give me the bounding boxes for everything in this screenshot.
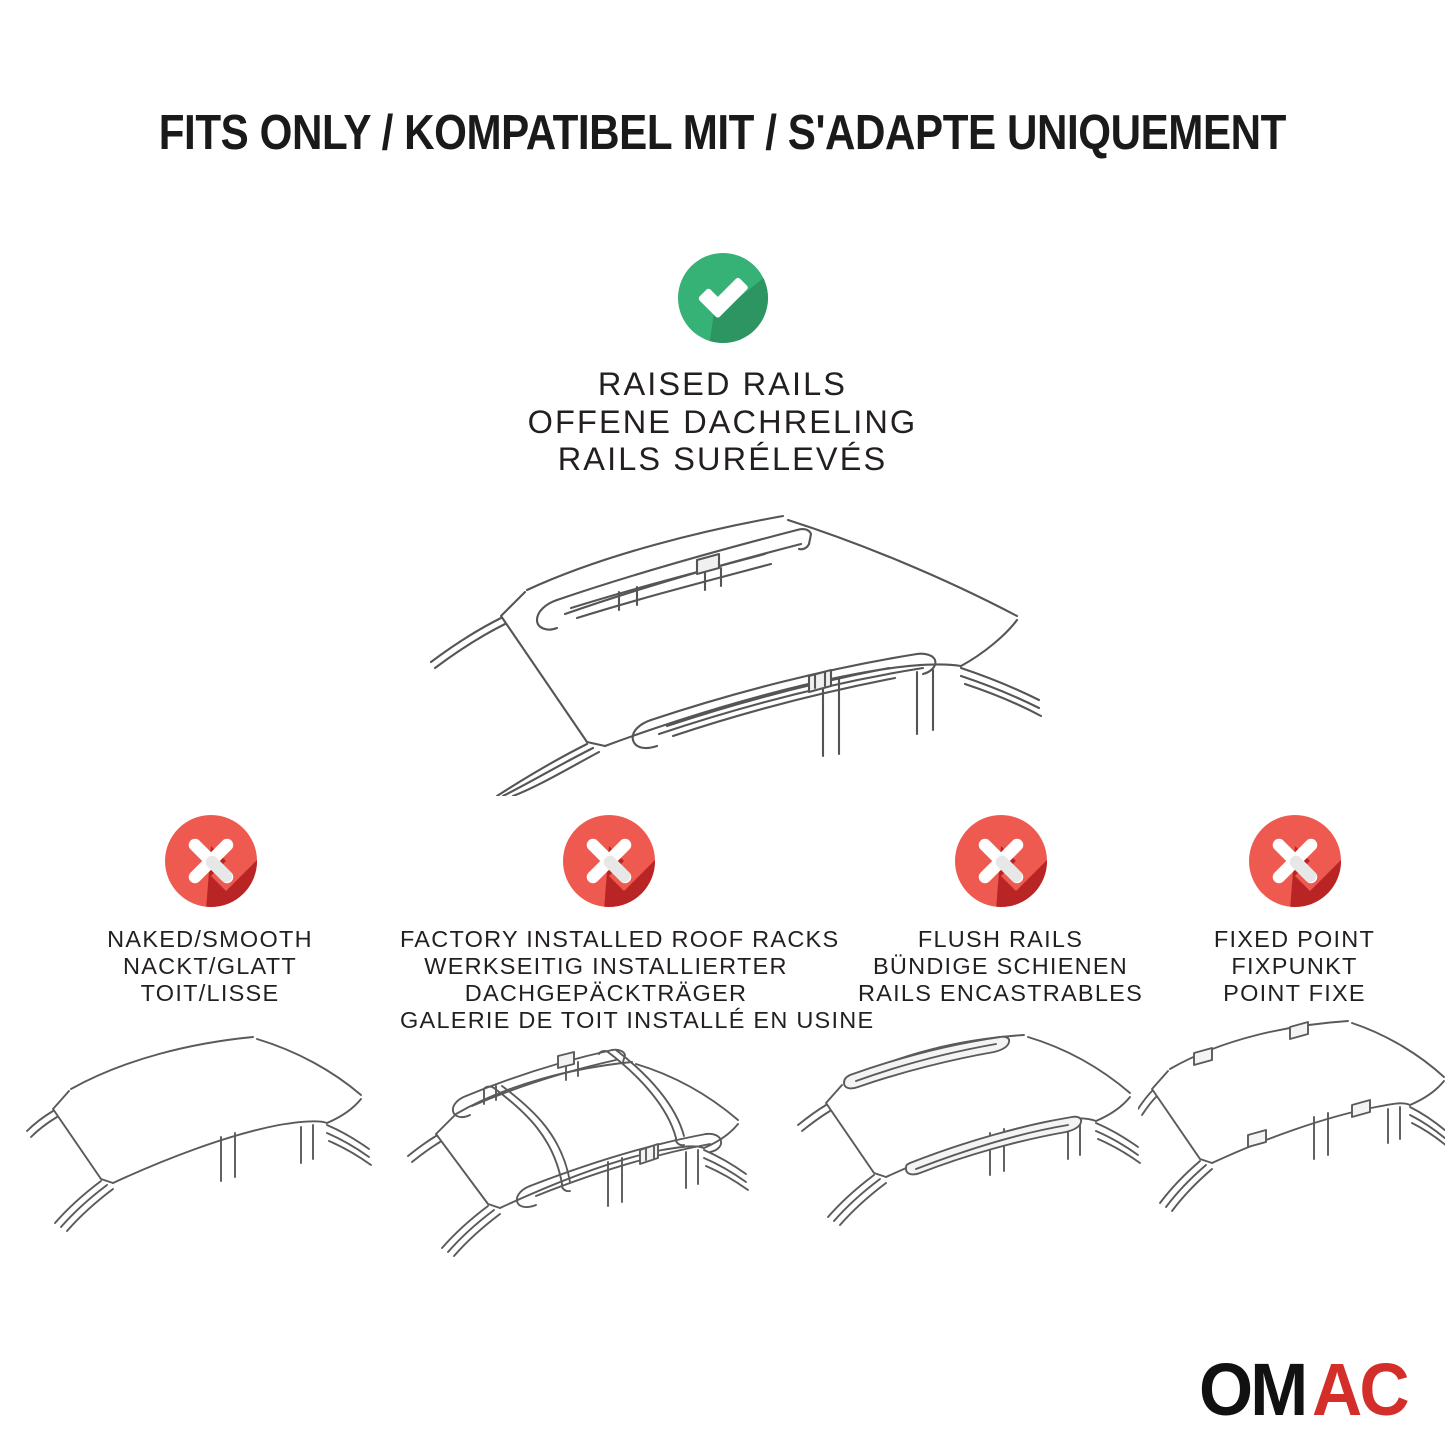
x-circle-icon [560, 812, 658, 910]
incompatible-label-4: FIXED POINT FIXPUNKT POINT FIXE [1172, 926, 1417, 1007]
incompatible-label-3-fr: RAILS ENCASTRABLES [828, 980, 1173, 1007]
x-icon-row-2 [400, 812, 812, 918]
car-roof-raised-rails-illustration [405, 496, 1055, 796]
car-roof-factory-roof-racks-illustration [396, 1034, 768, 1274]
incompatible-label-4-de: FIXPUNKT [1172, 953, 1417, 980]
x-icon-row-3 [828, 812, 1173, 918]
incompatible-label-1-fr: TOIT/LISSE [35, 980, 385, 1007]
incompatible-label-1: NAKED/SMOOTH NACKT/GLATT TOIT/LISSE [35, 926, 385, 1007]
x-circle-icon [162, 812, 260, 910]
x-circle-icon [1246, 812, 1344, 910]
check-icon-row [0, 250, 1445, 346]
compatible-label-en: RAISED RAILS [0, 366, 1445, 404]
logo-text-om: OM [1199, 1353, 1305, 1427]
incompatible-label-2-fr: GALERIE DE TOIT INSTALLÉ EN USINE [400, 1007, 812, 1034]
incompatible-label-4-fr: POINT FIXE [1172, 980, 1417, 1007]
page-title: FITS ONLY / KOMPATIBEL MIT / S'ADAPTE UN… [0, 104, 1445, 162]
compatible-panel: RAISED RAILS OFFENE DACHRELING RAILS SUR… [0, 250, 1445, 479]
incompatible-label-3-de: BÜNDIGE SCHIENEN [828, 953, 1173, 980]
compatible-label-fr: RAILS SURÉLEVÉS [0, 441, 1445, 479]
check-circle-icon [675, 250, 771, 346]
omac-logo: OMAC [1199, 1353, 1413, 1427]
incompatible-label-2-de2: DACHGEPÄCKTRÄGER [400, 980, 812, 1007]
x-icon-row-1 [35, 812, 385, 918]
incompatible-panel-flush-rails: FLUSH RAILS BÜNDIGE SCHIENEN RAILS ENCAS… [828, 812, 1173, 1243]
incompatible-label-2-en: FACTORY INSTALLED ROOF RACKS [400, 926, 812, 953]
incompatible-panel-naked-smooth: NAKED/SMOOTH NACKT/GLATT TOIT/LISSE [35, 812, 385, 1243]
car-roof-naked-smooth-illustration [25, 1013, 385, 1243]
x-circle-icon [952, 812, 1050, 910]
x-icon-row-4 [1172, 812, 1417, 918]
car-roof-flush-rails-illustration [786, 1013, 1152, 1243]
incompatible-label-3-en: FLUSH RAILS [828, 926, 1173, 953]
car-roof-fixed-point-illustration [1138, 1013, 1445, 1243]
incompatible-panel-fixed-point: FIXED POINT FIXPUNKT POINT FIXE [1172, 812, 1417, 1243]
page-title-text: FITS ONLY / KOMPATIBEL MIT / S'ADAPTE UN… [159, 104, 1286, 162]
incompatible-label-2-de1: WERKSEITIG INSTALLIERTER [400, 953, 812, 980]
compatible-label: RAISED RAILS OFFENE DACHRELING RAILS SUR… [0, 366, 1445, 479]
incompatible-label-1-en: NAKED/SMOOTH [35, 926, 385, 953]
incompatible-panel-factory-roof-racks: FACTORY INSTALLED ROOF RACKS WERKSEITIG … [400, 812, 812, 1280]
incompatible-label-3: FLUSH RAILS BÜNDIGE SCHIENEN RAILS ENCAS… [828, 926, 1173, 1007]
compatible-label-de: OFFENE DACHRELING [0, 404, 1445, 442]
incompatible-label-2: FACTORY INSTALLED ROOF RACKS WERKSEITIG … [400, 926, 812, 1034]
incompatible-label-4-en: FIXED POINT [1172, 926, 1417, 953]
logo-text-ac: AC [1312, 1353, 1407, 1427]
incompatible-label-1-de: NACKT/GLATT [35, 953, 385, 980]
